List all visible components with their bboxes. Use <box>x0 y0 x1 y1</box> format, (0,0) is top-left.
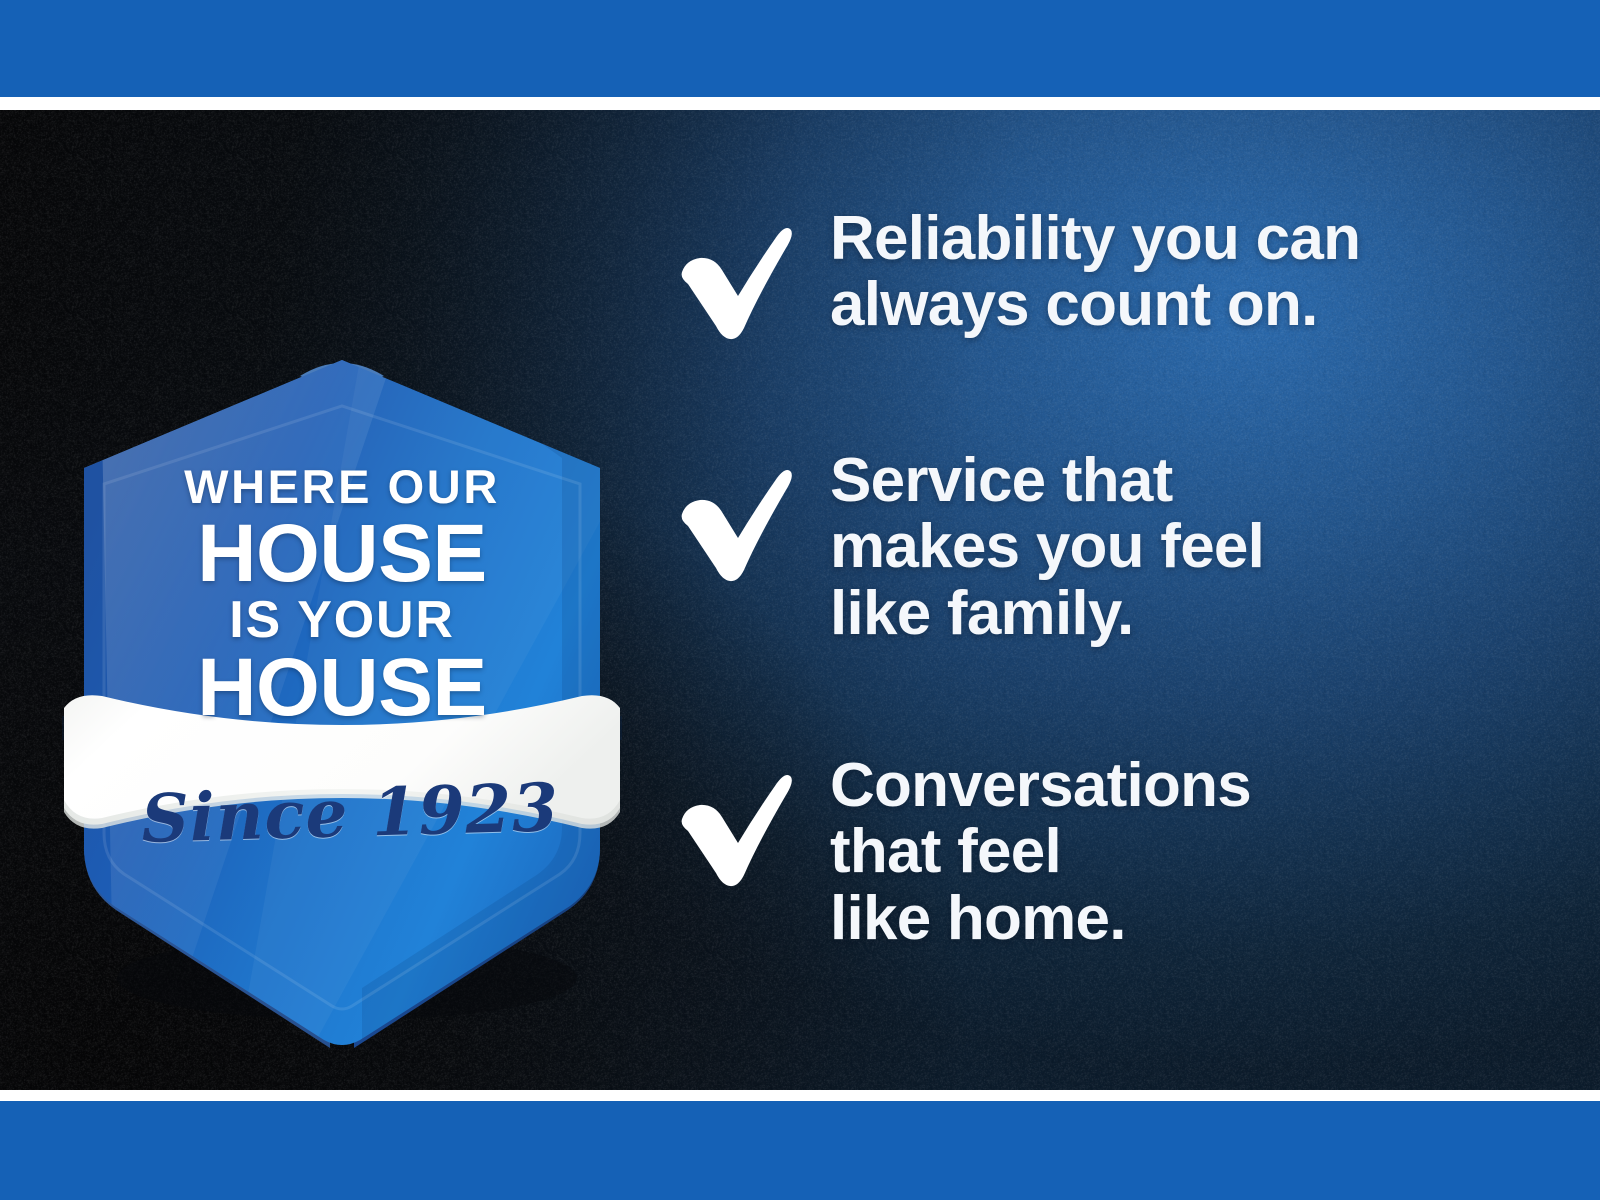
list-item: Reliability you can always count on. <box>676 206 1536 342</box>
shield-line-3: IS YOUR <box>84 596 600 646</box>
list-item: Service that makes you feel like family. <box>676 448 1536 647</box>
list-item-text: Service that makes you feel like family. <box>830 448 1536 647</box>
top-white-rule <box>0 97 1600 110</box>
list-item-line: makes you feel <box>830 514 1536 580</box>
main-stage: WHERE OUR HOUSE IS YOUR HOUSE Since 1923… <box>0 110 1600 1090</box>
benefits-list: Reliability you can always count on. Ser… <box>676 206 1536 952</box>
top-brand-band <box>0 0 1600 97</box>
shield-line-2: HOUSE <box>84 515 600 594</box>
shield-line-4: HOUSE <box>84 649 600 728</box>
list-item-line: like family. <box>830 581 1536 647</box>
shield-line-1: WHERE OUR <box>84 464 600 509</box>
check-icon <box>676 218 794 342</box>
bottom-brand-band <box>0 1101 1600 1200</box>
list-item-line: Service that <box>830 448 1536 514</box>
list-item-line: that feel <box>830 819 1536 885</box>
promo-banner: WHERE OUR HOUSE IS YOUR HOUSE Since 1923… <box>0 0 1600 1200</box>
list-item-text: Conversations that feel like home. <box>830 753 1536 952</box>
list-item-text: Reliability you can always count on. <box>830 206 1536 339</box>
ribbon-since-label: Since 1923 <box>89 767 611 859</box>
check-icon <box>676 460 794 584</box>
check-icon <box>676 765 794 889</box>
list-item-line: always count on. <box>830 272 1536 338</box>
bottom-white-rule <box>0 1090 1600 1101</box>
shield-tagline: WHERE OUR HOUSE IS YOUR HOUSE <box>84 464 600 727</box>
list-item: Conversations that feel like home. <box>676 753 1536 952</box>
shield-badge: WHERE OUR HOUSE IS YOUR HOUSE Since 1923 <box>62 288 622 928</box>
list-item-line: Conversations <box>830 753 1536 819</box>
list-item-line: like home. <box>830 886 1536 952</box>
list-item-line: Reliability you can <box>830 206 1536 272</box>
